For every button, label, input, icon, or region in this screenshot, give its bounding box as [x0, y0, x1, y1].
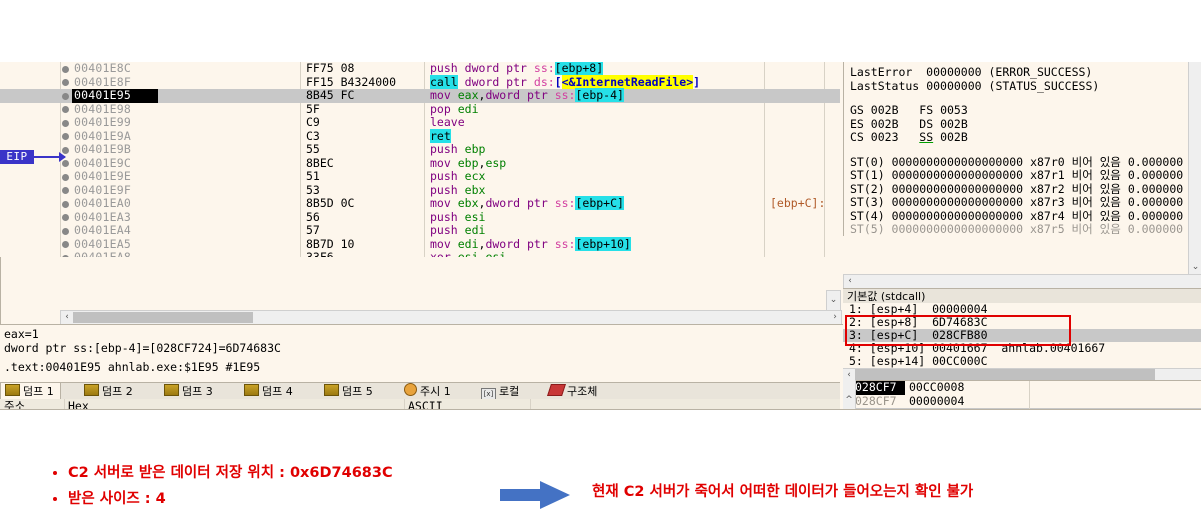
stack-value: 00000004 — [909, 395, 964, 409]
tab-label: 주시 1 — [420, 385, 451, 398]
disasm-bytes: FF15 B4324000 — [306, 76, 396, 90]
disasm-row[interactable]: 00401E99 C9 leave — [0, 116, 840, 130]
annotation-bullet-2: 받은 사이즈 : 4 — [68, 486, 393, 512]
stack-value: 00CC0008 — [909, 381, 964, 395]
disasm-mnemonic: pop edi — [430, 103, 479, 117]
disasm-row[interactable]: 00401EA5 8B7D 10 mov edi,dword ptr ss:[e… — [0, 238, 840, 252]
info-line-dword: dword ptr ss:[ebp-4]=[028CF724]=6D74683C — [4, 341, 844, 355]
disasm-bytes: C9 — [306, 116, 320, 130]
disasm-address: 00401EA4 — [74, 224, 156, 238]
disasm-address: 00401E9C — [74, 157, 156, 171]
disasm-vertical-scrollbar[interactable]: ⌄ — [826, 290, 841, 312]
watch-icon — [404, 383, 417, 396]
disasm-address: 00401E99 — [74, 116, 156, 130]
breakpoint-dot-icon[interactable] — [62, 93, 69, 100]
disasm-mnemonic: push edi — [430, 224, 485, 238]
disasm-row[interactable]: 00401E98 5F pop edi — [0, 103, 840, 117]
tab-locals[interactable]: [x]로컬 — [477, 383, 525, 400]
disasm-address: 00401E9E — [74, 170, 156, 184]
last-status-line: LastStatus 00000000 (STATUS_SUCCESS) — [850, 80, 1201, 94]
dump-icon — [324, 384, 339, 396]
disasm-row[interactable]: 00401E8F FF15 B4324000 call dword ptr ds… — [0, 76, 840, 90]
disasm-bytes: C3 — [306, 130, 320, 144]
fpu-row-st0: ST(0) 0000000000000000000 x87r0 비어 있음 0.… — [850, 156, 1201, 170]
tab-dump-3[interactable]: 덤프 3 — [160, 383, 219, 400]
info-line-location: .text:00401E95 ahnlab.exe:$1E95 #1E95 — [4, 360, 844, 374]
last-error-line: LastError 00000000 (ERROR_SUCCESS) — [850, 66, 1201, 80]
breakpoint-dot-icon[interactable] — [62, 214, 69, 221]
disasm-mnemonic: push ebx — [430, 184, 485, 198]
disasm-address: 00401EA5 — [74, 238, 156, 252]
registers-horizontal-scrollbar[interactable]: ‹ — [843, 274, 1201, 289]
tab-watch-1[interactable]: 주시 1 — [400, 383, 457, 400]
breakpoint-dot-icon[interactable] — [62, 255, 69, 258]
status-info-strip: eax=1 dword ptr ss:[ebp-4]=[028CF724]=6D… — [0, 324, 844, 385]
disasm-bytes: 8BEC — [306, 157, 334, 171]
breakpoint-dot-icon[interactable] — [62, 174, 69, 181]
disasm-address: 00401EA0 — [74, 197, 156, 211]
tab-label: 덤프 1 — [23, 385, 54, 398]
disasm-row[interactable]: 00401EA0 8B5D 0C mov ebx,dword ptr ss:[e… — [0, 197, 840, 211]
api-name: <&InternetReadFile> — [562, 75, 694, 89]
disasm-row[interactable]: 00401EA8 33F6 xor esi,esi — [0, 251, 840, 257]
disasm-mnemonic: leave — [430, 116, 465, 130]
breakpoint-dot-icon[interactable] — [62, 66, 69, 73]
tab-struct[interactable]: 구조체 — [545, 383, 603, 400]
eip-arrow-icon — [34, 156, 65, 158]
tab-label: 덤프 5 — [342, 385, 373, 398]
disasm-row-current[interactable]: 00401E95 8B45 FC mov eax,dword ptr ss:[e… — [0, 89, 840, 103]
args-pane[interactable]: 1: [esp+4] 00000004 2: [esp+8] 6D74683C … — [843, 303, 1201, 370]
disasm-mnemonic: push esi — [430, 211, 485, 225]
disasm-row[interactable]: 00401EA3 56 push esi — [0, 211, 840, 225]
breakpoint-dot-icon[interactable] — [62, 120, 69, 127]
disasm-mnemonic: mov eax,dword ptr ss:[ebp-4] — [430, 89, 624, 103]
scroll-left-icon[interactable]: ‹ — [844, 275, 856, 288]
segment-row-es-ds: ES 002B DS 002B — [850, 118, 1201, 132]
disasm-address: 00401EA8 — [74, 251, 156, 257]
disasm-bytes: 8B5D 0C — [306, 197, 354, 211]
disasm-bytes: 5F — [306, 103, 320, 117]
disasm-mnemonic: mov edi,dword ptr ss:[ebp+10] — [430, 238, 631, 252]
debugger-window: 00401E8C FF75 08 push dword ptr ss:[ebp+… — [0, 62, 1201, 410]
disasm-bytes: FF75 08 — [306, 62, 354, 76]
disasm-mnemonic: mov ebp,esp — [430, 157, 506, 171]
registers-pane[interactable]: LastError 00000000 (ERROR_SUCCESS) LastS… — [843, 62, 1201, 236]
eip-marker: EIP — [0, 150, 34, 164]
scroll-right-icon[interactable]: › — [829, 311, 841, 324]
annotation-area: C2 서버로 받은 데이터 저장 위치 : 0x6D74683C 받은 사이즈 … — [0, 440, 1201, 517]
breakpoint-dot-icon[interactable] — [62, 79, 69, 86]
disasm-comment: [ebp+C]: — [770, 197, 825, 211]
disasm-address: 00401E95 — [72, 89, 158, 103]
disasm-bytes: 57 — [306, 224, 320, 238]
disasm-mnemonic: ret — [430, 130, 451, 144]
dump-icon — [244, 384, 259, 396]
stack-pane[interactable]: 028CF7 00CC0008 028CF7 00000004 028CF7 6… — [843, 380, 1201, 410]
disasm-bytes: 51 — [306, 170, 320, 184]
disasm-row[interactable]: 00401E9B 55 push ebp — [0, 143, 840, 157]
disassembly-pane[interactable]: 00401E8C FF75 08 push dword ptr ss:[ebp+… — [0, 62, 840, 257]
arg-row[interactable]: 5: [esp+14] 00CC000C — [843, 355, 1201, 368]
disasm-bytes: 53 — [306, 184, 320, 198]
disasm-address: 00401EA3 — [74, 211, 156, 225]
disasm-mnemonic: xor esi,esi — [430, 251, 506, 257]
annotation-right-text: 현재 C2 서버가 죽어서 어떠한 데이터가 들어오는지 확인 불가 — [592, 480, 973, 501]
disasm-mnemonic: push ecx — [430, 170, 485, 184]
disasm-bytes: 55 — [306, 143, 320, 157]
scroll-down-icon[interactable]: ⌄ — [1189, 261, 1201, 274]
disasm-bytes: 56 — [306, 211, 320, 225]
tab-label: 덤프 4 — [262, 385, 293, 398]
breakpoint-dot-icon[interactable] — [62, 201, 69, 208]
info-line-eax: eax=1 — [4, 327, 844, 341]
disasm-bytes: 8B7D 10 — [306, 238, 354, 252]
breakpoint-dot-icon[interactable] — [62, 106, 69, 113]
breakpoint-dot-icon[interactable] — [62, 228, 69, 235]
stack-row[interactable]: 028CF7 00000004 — [843, 395, 1201, 409]
tab-label: 로컬 — [499, 385, 519, 398]
right-arrow-icon — [500, 480, 572, 510]
stack-vertical-scrollbar[interactable]: ^ — [843, 380, 856, 410]
annotation-bullet-list: C2 서버로 받은 데이터 저장 위치 : 0x6D74683C 받은 사이즈 … — [50, 460, 393, 512]
disasm-horizontal-scrollbar[interactable]: ‹ › — [60, 310, 842, 325]
dump-icon — [5, 384, 20, 396]
annotation-bullet-1: C2 서버로 받은 데이터 저장 위치 : 0x6D74683C — [68, 460, 393, 486]
tab-dump-4[interactable]: 덤프 4 — [240, 383, 299, 400]
tab-label: 구조체 — [567, 385, 597, 398]
fpu-row-st5: ST(5) 0000000000000000000 x87r5 비어 있음 0.… — [850, 223, 1201, 236]
disasm-address: 00401E8F — [74, 76, 156, 90]
disasm-row[interactable]: 00401E9C 8BEC mov ebp,esp — [0, 157, 840, 171]
disasm-mnemonic: call dword ptr ds:[<&InternetReadFile>] — [430, 76, 700, 90]
segment-row-cs-ss: CS 0023 SS 002B — [850, 131, 1201, 145]
disasm-bytes: 8B45 FC — [306, 89, 354, 103]
dump-icon — [164, 384, 179, 396]
disasm-row[interactable]: 00401EA4 57 push edi — [0, 224, 840, 238]
fpu-row-st4: ST(4) 0000000000000000000 x87r4 비어 있음 0.… — [850, 210, 1201, 224]
tab-dump-5[interactable]: 덤프 5 — [320, 383, 379, 400]
disasm-row[interactable]: 00401E8C FF75 08 push dword ptr ss:[ebp+… — [0, 62, 840, 76]
stack-row[interactable]: 028CF7 00CC0008 — [843, 381, 1201, 395]
stack-address: 028CF7 — [855, 395, 905, 409]
disasm-address: 00401E9A — [74, 130, 156, 144]
disasm-mnemonic: mov ebx,dword ptr ss:[ebp+C] — [430, 197, 624, 211]
dump-icon — [84, 384, 99, 396]
fpu-row-st3: ST(3) 0000000000000000000 x87r3 비어 있음 0.… — [850, 196, 1201, 210]
tab-dump-2[interactable]: 덤프 2 — [80, 383, 139, 400]
tab-label: 덤프 2 — [102, 385, 133, 398]
disasm-row[interactable]: 00401E9A C3 ret — [0, 130, 840, 144]
window-bottom-edge — [0, 409, 1201, 410]
stack-address: 028CF7 — [855, 381, 905, 395]
segment-row-gs-fs: GS 002B FS 0053 — [850, 104, 1201, 118]
fpu-row-st1: ST(1) 0000000000000000000 x87r1 비어 있음 0.… — [850, 169, 1201, 183]
breakpoint-dot-icon[interactable] — [62, 241, 69, 248]
disasm-row[interactable]: 00401E9E 51 push ecx — [0, 170, 840, 184]
struct-icon — [547, 384, 566, 396]
disasm-address: 00401E8C — [74, 62, 156, 76]
disasm-mnemonic: push dword ptr ss:[ebp+8] — [430, 62, 603, 76]
tab-label: 덤프 3 — [182, 385, 213, 398]
disasm-address: 00401E9B — [74, 143, 156, 157]
disasm-mnemonic: push ebp — [430, 143, 485, 157]
disasm-row[interactable]: 00401E9F 53 push ebx — [0, 184, 840, 198]
breakpoint-dot-icon[interactable] — [62, 133, 69, 140]
disasm-bytes: 33F6 — [306, 251, 334, 257]
registers-vertical-scrollbar[interactable]: ⌄ — [1188, 62, 1201, 274]
disasm-address: 00401E98 — [74, 103, 156, 117]
scroll-up-icon[interactable]: ^ — [843, 394, 855, 406]
scroll-thumb[interactable] — [73, 312, 253, 323]
scroll-left-icon[interactable]: ‹ — [61, 311, 73, 324]
fpu-row-st2: ST(2) 0000000000000000000 x87r2 비어 있음 0.… — [850, 183, 1201, 197]
breakpoint-dot-icon[interactable] — [62, 187, 69, 194]
disasm-address: 00401E9F — [74, 184, 156, 198]
